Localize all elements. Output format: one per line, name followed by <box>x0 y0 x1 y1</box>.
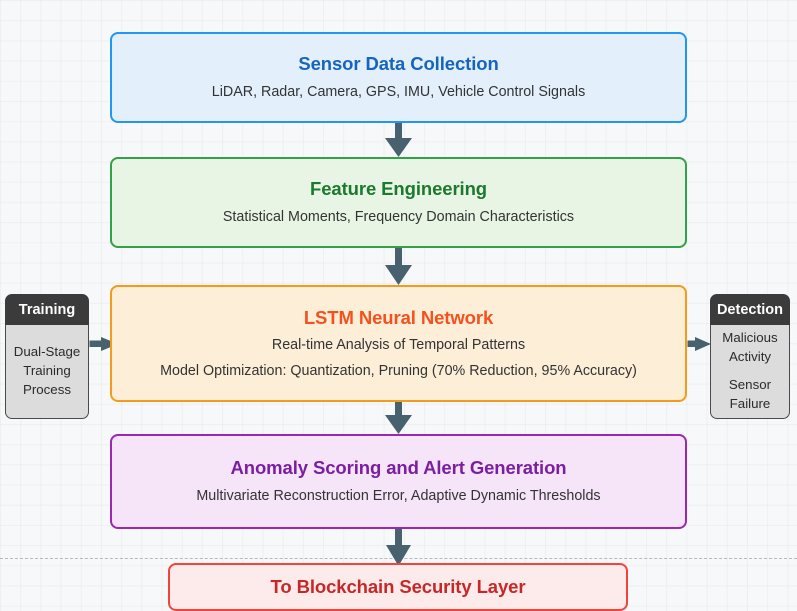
arrow-lstm-to-detection <box>688 337 711 351</box>
node-blockchain-title: To Blockchain Security Layer <box>271 576 526 597</box>
node-lstm-title: LSTM Neural Network <box>304 307 493 328</box>
arrow-lstm-to-anomaly <box>385 402 412 434</box>
side-panel-detection-a-line-2: Activity <box>729 348 771 367</box>
side-panel-training-line-1: Dual-Stage <box>14 343 81 362</box>
node-feature-title: Feature Engineering <box>310 178 487 199</box>
node-lstm-subtitle-secondary: Model Optimization: Quantization, Prunin… <box>160 363 637 381</box>
section-divider <box>0 558 797 559</box>
side-panel-detection-b-line-2: Failure <box>730 395 771 414</box>
side-panel-training-header: Training <box>5 294 89 325</box>
node-sensor-data-collection[interactable]: Sensor Data Collection LiDAR, Radar, Cam… <box>110 32 687 123</box>
side-panel-detection-b-line-1: Sensor <box>729 376 771 395</box>
side-panel-detection[interactable]: Detection Malicious Activity Sensor Fail… <box>710 294 790 419</box>
node-sensor-title: Sensor Data Collection <box>298 53 498 74</box>
side-panel-training[interactable]: Training Dual-Stage Training Process <box>5 294 89 419</box>
diagram-canvas: Sensor Data Collection LiDAR, Radar, Cam… <box>0 0 797 611</box>
node-anomaly-scoring[interactable]: Anomaly Scoring and Alert Generation Mul… <box>110 434 687 529</box>
node-sensor-subtitle: LiDAR, Radar, Camera, GPS, IMU, Vehicle … <box>212 84 585 102</box>
node-anomaly-title: Anomaly Scoring and Alert Generation <box>231 457 567 478</box>
side-panel-training-body: Dual-Stage Training Process <box>5 325 89 419</box>
side-panel-training-line-2: Training <box>23 362 71 381</box>
node-feature-subtitle: Statistical Moments, Frequency Domain Ch… <box>223 209 574 227</box>
side-panel-detection-header: Detection <box>710 294 790 325</box>
node-lstm-subtitle: Real-time Analysis of Temporal Patterns <box>272 337 525 355</box>
node-lstm-neural-network[interactable]: LSTM Neural Network Real-time Analysis o… <box>110 285 687 402</box>
arrow-feature-to-lstm <box>385 248 412 285</box>
side-panel-detection-a-line-1: Malicious <box>722 329 777 348</box>
side-panel-detection-body: Malicious Activity Sensor Failure <box>710 325 790 419</box>
side-panel-training-line-3: Process <box>23 381 71 400</box>
arrow-anomaly-to-blockchain <box>386 529 411 566</box>
arrow-sensor-to-feature <box>385 122 412 157</box>
node-feature-engineering[interactable]: Feature Engineering Statistical Moments,… <box>110 157 687 248</box>
node-blockchain-security-layer[interactable]: To Blockchain Security Layer <box>168 563 628 611</box>
node-anomaly-subtitle: Multivariate Reconstruction Error, Adapt… <box>196 488 600 506</box>
